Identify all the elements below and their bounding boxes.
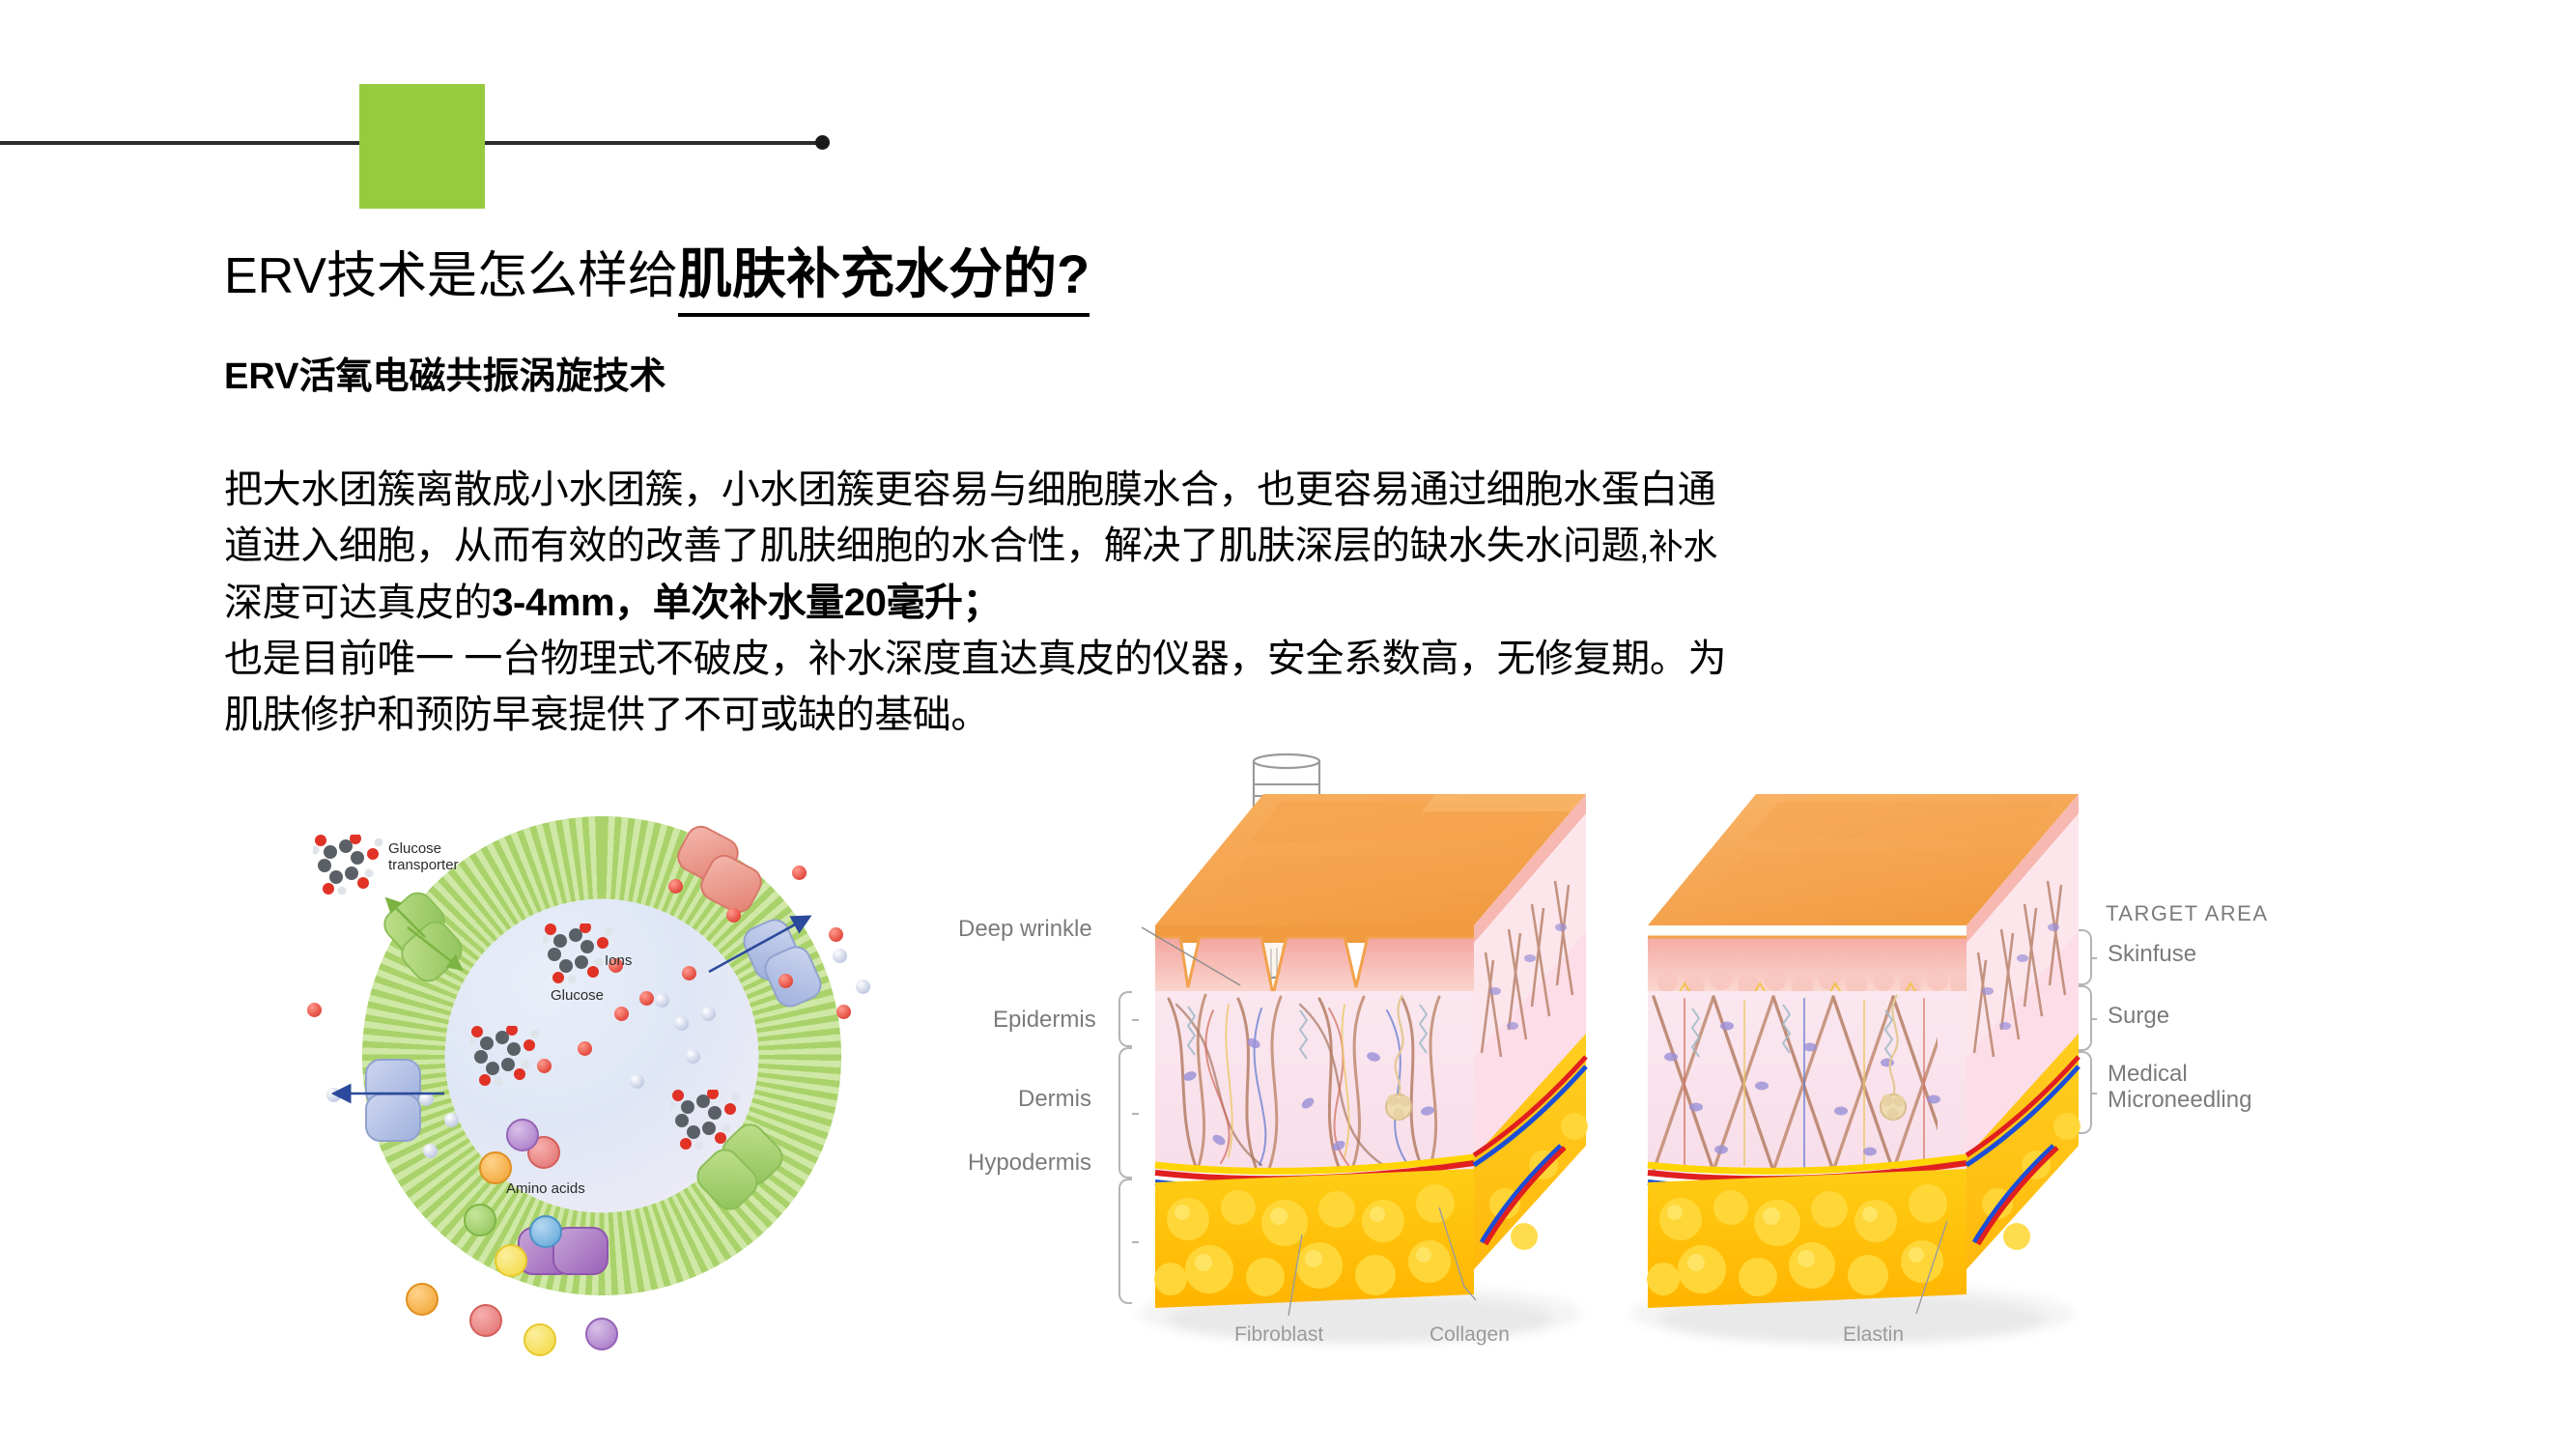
body-line-3b: 3-4mm，单次补水量20毫升；: [492, 582, 1001, 624]
medical-microneedling-brace: [2079, 1051, 2092, 1134]
top-decoration: [0, 0, 2576, 222]
amino-acid-blue: [529, 1215, 562, 1248]
rule-end-dot-icon: [815, 135, 830, 150]
body-line-3a: 深度可达真皮的: [224, 582, 492, 624]
body-paragraph: 把大水团簇离散成小水团簇，小水团簇更容易与细胞膜水合，也更容易通过细胞水蛋白通 …: [224, 462, 2156, 743]
ion-transport-arrow-right-icon: [699, 904, 835, 991]
glucose-molecule-inside-right-icon: [670, 1090, 742, 1150]
red-ion: [537, 1059, 552, 1073]
accent-square: [359, 84, 485, 209]
skinfuse-brace: [2079, 929, 2092, 985]
label-collagen: Collagen: [1430, 1321, 1510, 1348]
red-ion: [307, 1003, 322, 1017]
amino-acid-purple-outside: [585, 1318, 618, 1350]
label-ions: Ions: [605, 952, 632, 969]
ion-particle: [833, 949, 847, 963]
red-ion: [578, 1041, 592, 1056]
amino-acid-red-outside: [469, 1304, 502, 1337]
label-skinfuse: Skinfuse: [2108, 941, 2196, 967]
skin-block-smooth: [1638, 767, 2102, 1327]
label-dermis: Dermis: [1018, 1086, 1091, 1112]
ion-particle: [423, 1144, 438, 1158]
body-line-3: 深度可达真皮的3-4mm，单次补水量20毫升；: [224, 575, 2156, 631]
red-ion: [836, 1005, 851, 1019]
surge-brace: [2079, 985, 2092, 1051]
label-amino-acids: Amino acids: [506, 1180, 585, 1197]
skin-block-wrinkled: [1146, 767, 1609, 1327]
label-epidermis: Epidermis: [993, 1007, 1096, 1033]
label-glucose-transporter: Glucose transporter: [388, 840, 504, 873]
body-line-2: 道进入细胞，从而有效的改善了肌肤细胞的水合性，解决了肌肤深层的缺水失水问题,补水: [224, 518, 2156, 575]
hypodermis-brace: [1118, 1179, 1132, 1304]
ion-transport-arrow-left-icon: [319, 1070, 464, 1119]
page-title-plain: ERV技术是怎么样给: [224, 248, 678, 304]
body-line-4: 也是目前唯一 一台物理式不破皮，补水深度直达真皮的仪器，安全系数高，无修复期。为: [224, 631, 2156, 687]
label-medical-microneedling: Medical Microneedling: [2108, 1061, 2251, 1113]
red-ion: [668, 879, 683, 894]
body-line-5: 肌肤修护和预防早衰提供了不可或缺的基础。: [224, 687, 2156, 743]
body-line-1: 把大水团簇离散成小水团簇，小水团簇更容易与细胞膜水合，也更容易通过细胞水蛋白通: [224, 462, 2156, 518]
body-line-2a: 道进入细胞，从而有效的改善了肌肤细胞的水合性，解决了肌肤深层的缺水失水问题: [224, 525, 1639, 567]
amino-acid-purple: [506, 1119, 539, 1151]
fibroblast-leader-line: [1275, 1235, 1314, 1316]
ion-particle: [630, 1074, 644, 1089]
dermis-brace: [1118, 1047, 1132, 1179]
page-title-emphasis: 肌肤补充水分的?: [678, 243, 1090, 317]
label-deep-wrinkle: Deep wrinkle: [958, 916, 1092, 942]
red-ion: [614, 1007, 629, 1021]
label-surge: Surge: [2108, 1003, 2169, 1029]
glucose-transport-arrows-icon: [367, 885, 473, 981]
label-fibroblast: Fibroblast: [1234, 1321, 1323, 1348]
page-subtitle: ERV活氧电磁共振涡旋技术: [224, 346, 665, 399]
amino-acid-yellow: [495, 1244, 527, 1277]
amino-acid-orange: [479, 1151, 512, 1184]
label-elastin: Elastin: [1843, 1321, 1904, 1348]
amino-acid-orange-outside: [406, 1283, 439, 1316]
label-hypodermis: Hypodermis: [968, 1150, 1091, 1176]
cell-membrane-diagram: Glucose transporter Glucose Ions Amino a…: [290, 811, 927, 1352]
glucose-molecule-inside-lower-icon: [469, 1026, 541, 1086]
skin-cross-section-diagram: ERV: [956, 753, 2521, 1372]
label-glucose: Glucose: [551, 987, 604, 1004]
red-ion: [792, 866, 807, 880]
ion-particle: [655, 993, 669, 1008]
ion-particle: [701, 1007, 716, 1021]
figures-region: Glucose transporter Glucose Ions Amino a…: [0, 753, 2576, 1372]
page-title: ERV技术是怎么样给肌肤补充水分的?: [224, 247, 1090, 301]
red-ion: [639, 991, 654, 1006]
red-ion: [682, 966, 696, 980]
collagen-leader-line: [1431, 1207, 1489, 1316]
glucose-molecule-inside-upper-icon: [543, 923, 614, 983]
elastin-leader-line: [1903, 1221, 1957, 1316]
amino-acid-yellow-outside: [524, 1323, 556, 1356]
label-target-area-heading: TARGET AREA: [2106, 900, 2269, 926]
amino-acid-green: [464, 1204, 496, 1236]
ion-particle: [686, 1049, 700, 1064]
ion-particle: [674, 1016, 689, 1031]
ion-particle: [856, 980, 870, 994]
epidermis-brace: [1118, 991, 1132, 1047]
body-line-2b: ,补水: [1639, 526, 1717, 566]
deep-wrinkle-leader-line: [1140, 925, 1246, 989]
